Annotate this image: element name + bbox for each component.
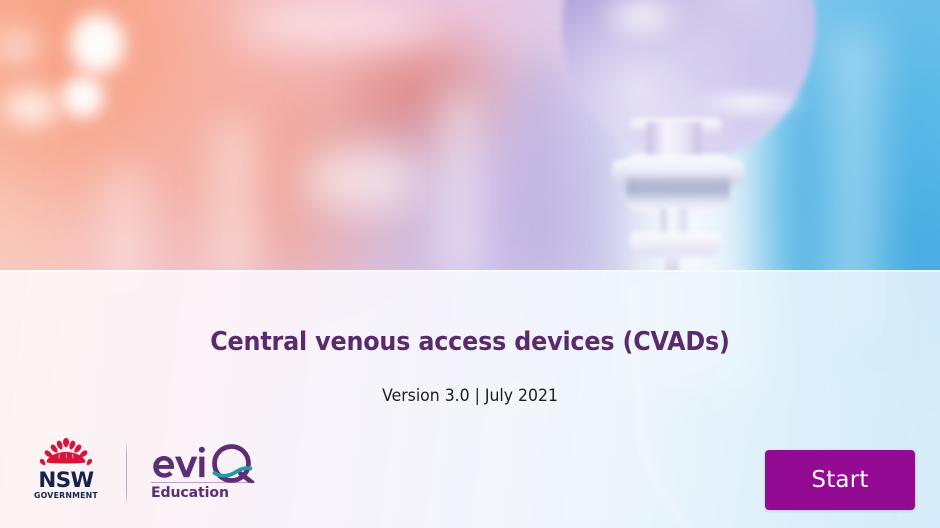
- logo-lockup: NSW GOVERNMENT: [30, 437, 257, 509]
- iv-drip-chamber-icon: [626, 155, 730, 211]
- iv-bag-highlight: [690, 88, 810, 118]
- logo-divider: [126, 442, 127, 504]
- start-button[interactable]: Start: [765, 450, 915, 510]
- eviq-rule: [151, 482, 251, 483]
- panel-top-divider: [0, 270, 940, 272]
- nsw-government-wordmark: GOVERNMENT: [31, 492, 102, 500]
- eviq-education-logo: Education: [149, 441, 257, 505]
- nsw-wordmark: NSW: [29, 470, 102, 491]
- title-slide: Central venous access devices (CVADs) Ve…: [0, 0, 940, 528]
- nsw-government-logo: NSW GOVERNMENT: [30, 437, 102, 509]
- page-title: Central venous access devices (CVADs): [31, 328, 910, 356]
- eviq-wordmark-icon: [149, 443, 257, 483]
- waratah-icon: [36, 437, 96, 471]
- version-subtitle: Version 3.0 | July 2021: [24, 386, 917, 405]
- eviq-tagline: Education: [151, 484, 254, 502]
